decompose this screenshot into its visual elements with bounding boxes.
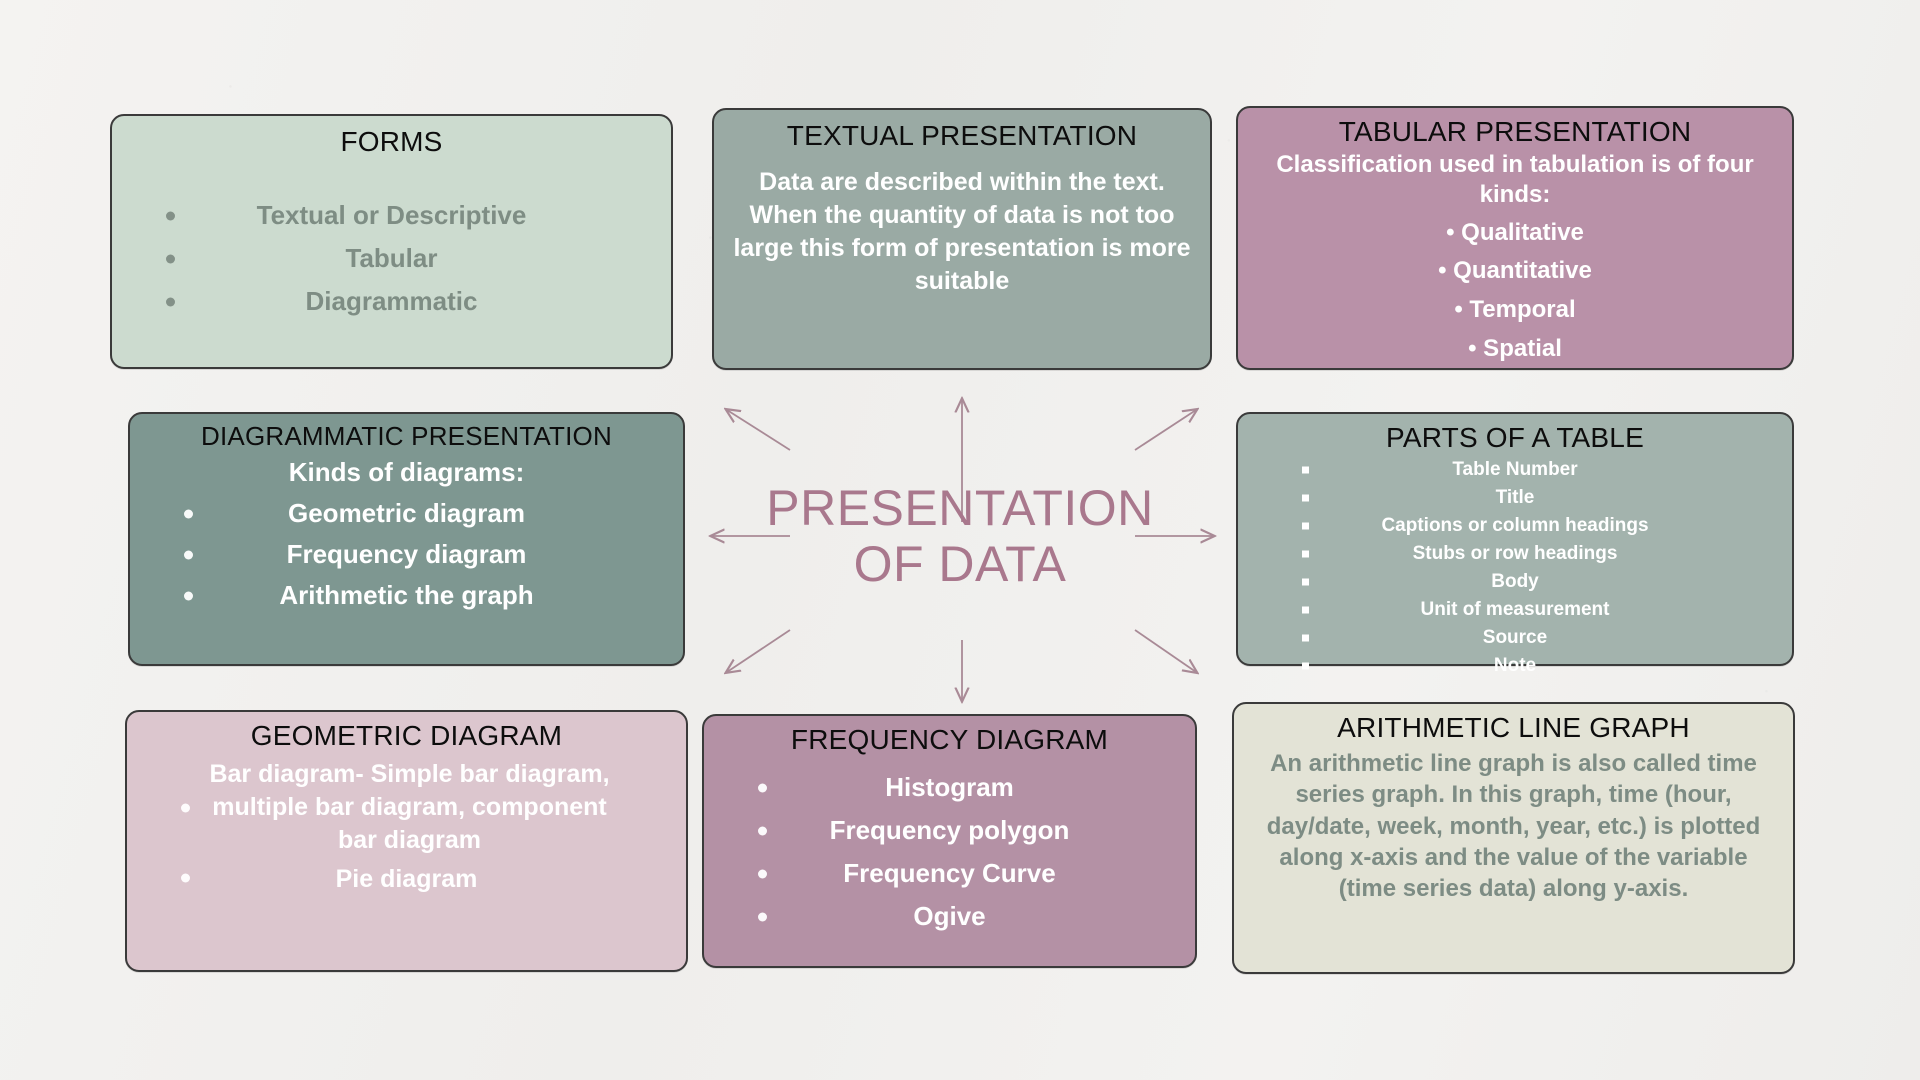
list-item: Diagrammatic — [128, 280, 655, 323]
list-item: Stubs or row headings — [1254, 540, 1776, 568]
list-item: • Qualitative — [1254, 218, 1776, 249]
card-tabular-title: TABULAR PRESENTATION — [1254, 116, 1776, 148]
card-parts-title: PARTS OF A TABLE — [1254, 422, 1776, 454]
list-item: Frequency diagram — [146, 534, 667, 575]
card-parts-of-a-table[interactable]: PARTS OF A TABLE Table Number Title Capt… — [1236, 412, 1794, 666]
list-item: Arithmetic the graph — [146, 575, 667, 616]
card-tabular-intro: Classification used in tabulation is of … — [1254, 150, 1776, 210]
list-item: Note — [1254, 652, 1776, 680]
list-item: • Quantitative — [1254, 256, 1776, 287]
hub-title-line2: OF DATA — [700, 536, 1220, 592]
card-textual-presentation[interactable]: TEXTUAL PRESENTATION Data are described … — [712, 108, 1212, 370]
card-textual-title: TEXTUAL PRESENTATION — [730, 120, 1194, 152]
list-item: Captions or column headings — [1254, 512, 1776, 540]
list-item: Histogram — [720, 766, 1179, 809]
list-item: Title — [1254, 484, 1776, 512]
card-diagrammatic-list: Geometric diagram Frequency diagram Arit… — [146, 493, 667, 616]
list-item: Pie diagram — [143, 859, 670, 896]
card-diagrammatic-presentation[interactable]: DIAGRAMMATIC PRESENTATION Kinds of diagr… — [128, 412, 685, 666]
card-tabular-presentation[interactable]: TABULAR PRESENTATION Classification used… — [1236, 106, 1794, 370]
card-geometric-title: GEOMETRIC DIAGRAM — [143, 720, 670, 752]
card-arithmetic-title: ARITHMETIC LINE GRAPH — [1250, 712, 1777, 744]
hub-title: PRESENTATION OF DATA — [700, 480, 1220, 592]
list-item: Frequency Curve — [720, 852, 1179, 895]
card-geometric-diagram[interactable]: GEOMETRIC DIAGRAM Bar diagram- Simple ba… — [125, 710, 688, 972]
list-item: Tabular — [128, 237, 655, 280]
card-forms-list: Textual or Descriptive Tabular Diagramma… — [128, 194, 655, 323]
list-item: Bar diagram- Simple bar diagram, multipl… — [143, 756, 670, 859]
list-item: Geometric diagram — [146, 493, 667, 534]
card-diagrammatic-title: DIAGRAMMATIC PRESENTATION — [146, 422, 667, 452]
list-item: Table Number — [1254, 456, 1776, 484]
list-item: Ogive — [720, 895, 1179, 938]
hub-title-line1: PRESENTATION — [766, 480, 1154, 536]
list-item: • Temporal — [1254, 295, 1776, 326]
card-textual-paragraph: Data are described within the text. When… — [730, 166, 1194, 298]
card-frequency-diagram[interactable]: FREQUENCY DIAGRAM Histogram Frequency po… — [702, 714, 1197, 968]
list-item: Body — [1254, 568, 1776, 596]
card-frequency-title: FREQUENCY DIAGRAM — [720, 724, 1179, 756]
list-item: Textual or Descriptive — [128, 194, 655, 237]
card-diagrammatic-intro: Kinds of diagrams: — [146, 456, 667, 489]
list-item: Unit of measurement — [1254, 596, 1776, 624]
card-frequency-list: Histogram Frequency polygon Frequency Cu… — [720, 766, 1179, 938]
card-parts-list: Table Number Title Captions or column he… — [1254, 456, 1776, 680]
card-geometric-list: Bar diagram- Simple bar diagram, multipl… — [143, 756, 670, 896]
list-item: Source — [1254, 624, 1776, 652]
card-arithmetic-line-graph[interactable]: ARITHMETIC LINE GRAPH An arithmetic line… — [1232, 702, 1795, 974]
card-arithmetic-paragraph: An arithmetic line graph is also called … — [1250, 748, 1777, 904]
card-forms[interactable]: FORMS Textual or Descriptive Tabular Dia… — [110, 114, 673, 369]
diagram-canvas: FORMS Textual or Descriptive Tabular Dia… — [0, 0, 1920, 1080]
list-item: • Spatial — [1254, 334, 1776, 365]
list-item: Frequency polygon — [720, 809, 1179, 852]
card-forms-title: FORMS — [128, 126, 655, 158]
